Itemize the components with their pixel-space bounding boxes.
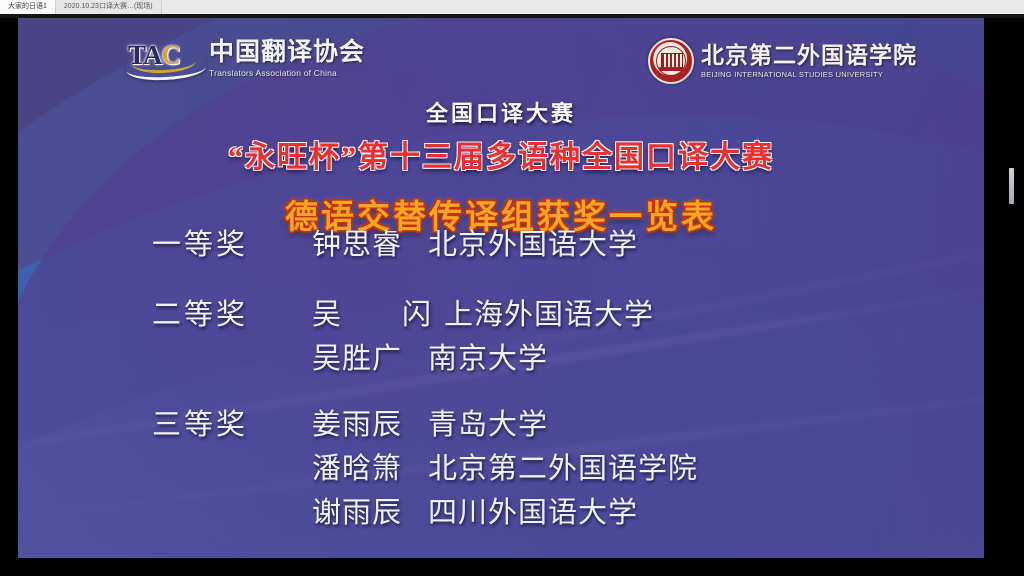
tab-strip: 大家的日语1 2020.10.23口译大赛…(现场)	[0, 0, 1024, 15]
tab-1[interactable]: 2020.10.23口译大赛…(现场)	[56, 0, 162, 14]
winner-name: 谢雨辰	[312, 491, 416, 535]
player-window: 大家的日语1 2020.10.23口译大赛…(现场) TAC	[0, 0, 1024, 576]
award-group-third: 三等奖 姜雨辰 青岛大学 潘晗箫 北京第二外国语学院 谢雨辰 四川外国语大学	[18, 403, 984, 535]
winner-name: 吴 闪	[312, 293, 432, 337]
award-entry: 谢雨辰 四川外国语大学	[312, 491, 698, 535]
tab-0[interactable]: 大家的日语1	[0, 0, 56, 14]
winner-name: 钟思睿	[312, 223, 416, 267]
winner-name: 吴胜广	[312, 337, 416, 381]
winner-name: 潘晗箫	[312, 447, 416, 491]
logo-row: TAC 中国翻译协会 Translators Association of Ch…	[18, 34, 984, 98]
award-entry: 吴胜广 南京大学	[312, 337, 654, 381]
tac-logo: TAC 中国翻译协会 Translators Association of Ch…	[128, 40, 365, 78]
award-entries: 姜雨辰 青岛大学 潘晗箫 北京第二外国语学院 谢雨辰 四川外国语大学	[312, 403, 698, 535]
award-entry: 吴 闪 上海外国语大学	[312, 293, 654, 337]
bisu-logo: 北京第二外国语学院 BEIJING INTERNATIONAL STUDIES …	[648, 38, 917, 84]
award-list: 一等奖 钟思睿 北京外国语大学 二等奖 吴 闪 上海外国语大学 吴胜	[18, 223, 984, 535]
winner-school: 北京外国语大学	[428, 223, 638, 267]
winner-school: 南京大学	[428, 337, 548, 381]
tac-name-en: Translators Association of China	[209, 68, 365, 78]
bisu-name-en: BEIJING INTERNATIONAL STUDIES UNIVERSITY	[701, 70, 917, 79]
tac-name-cn: 中国翻译协会	[209, 40, 365, 65]
winner-school: 青岛大学	[428, 403, 548, 447]
tab-label: 大家的日语1	[8, 0, 47, 14]
award-entries: 钟思睿 北京外国语大学	[312, 223, 638, 267]
award-entry: 钟思睿 北京外国语大学	[312, 223, 638, 267]
award-label: 一等奖	[18, 223, 248, 267]
slide-canvas: TAC 中国翻译协会 Translators Association of Ch…	[18, 18, 984, 558]
tac-monogram-icon: TAC	[128, 40, 202, 78]
winner-school: 上海外国语大学	[444, 293, 654, 337]
award-group-first: 一等奖 钟思睿 北京外国语大学	[18, 223, 984, 267]
award-entry: 姜雨辰 青岛大学	[312, 403, 698, 447]
slide-title-block: 全国口译大赛 “永旺杯”第十三届多语种全国口译大赛 德语交替传译组获奖一览表	[18, 96, 984, 238]
tab-strip-filler	[162, 0, 1024, 14]
award-label: 三等奖	[18, 403, 248, 447]
award-entry: 潘晗箫 北京第二外国语学院	[312, 447, 698, 491]
event-main-title: “永旺杯”第十三届多语种全国口译大赛	[18, 132, 984, 176]
award-label: 二等奖	[18, 293, 248, 337]
winner-school: 四川外国语大学	[428, 491, 638, 535]
bisu-name-cn: 北京第二外国语学院	[701, 44, 917, 67]
event-series-title: 全国口译大赛	[18, 96, 984, 128]
bisu-seal-base	[659, 67, 683, 71]
award-entries: 吴 闪 上海外国语大学 吴胜广 南京大学	[312, 293, 654, 381]
tac-swoosh-white-icon	[125, 55, 206, 82]
award-group-second: 二等奖 吴 闪 上海外国语大学 吴胜广 南京大学	[18, 293, 984, 381]
bisu-seal-icon	[648, 38, 694, 84]
tab-label: 2020.10.23口译大赛…(现场)	[64, 0, 153, 14]
vertical-scrollbar-thumb[interactable]	[1009, 168, 1014, 204]
bisu-seal-book-icon	[661, 53, 683, 68]
winner-school: 北京第二外国语学院	[428, 447, 698, 491]
winner-name: 姜雨辰	[312, 403, 416, 447]
